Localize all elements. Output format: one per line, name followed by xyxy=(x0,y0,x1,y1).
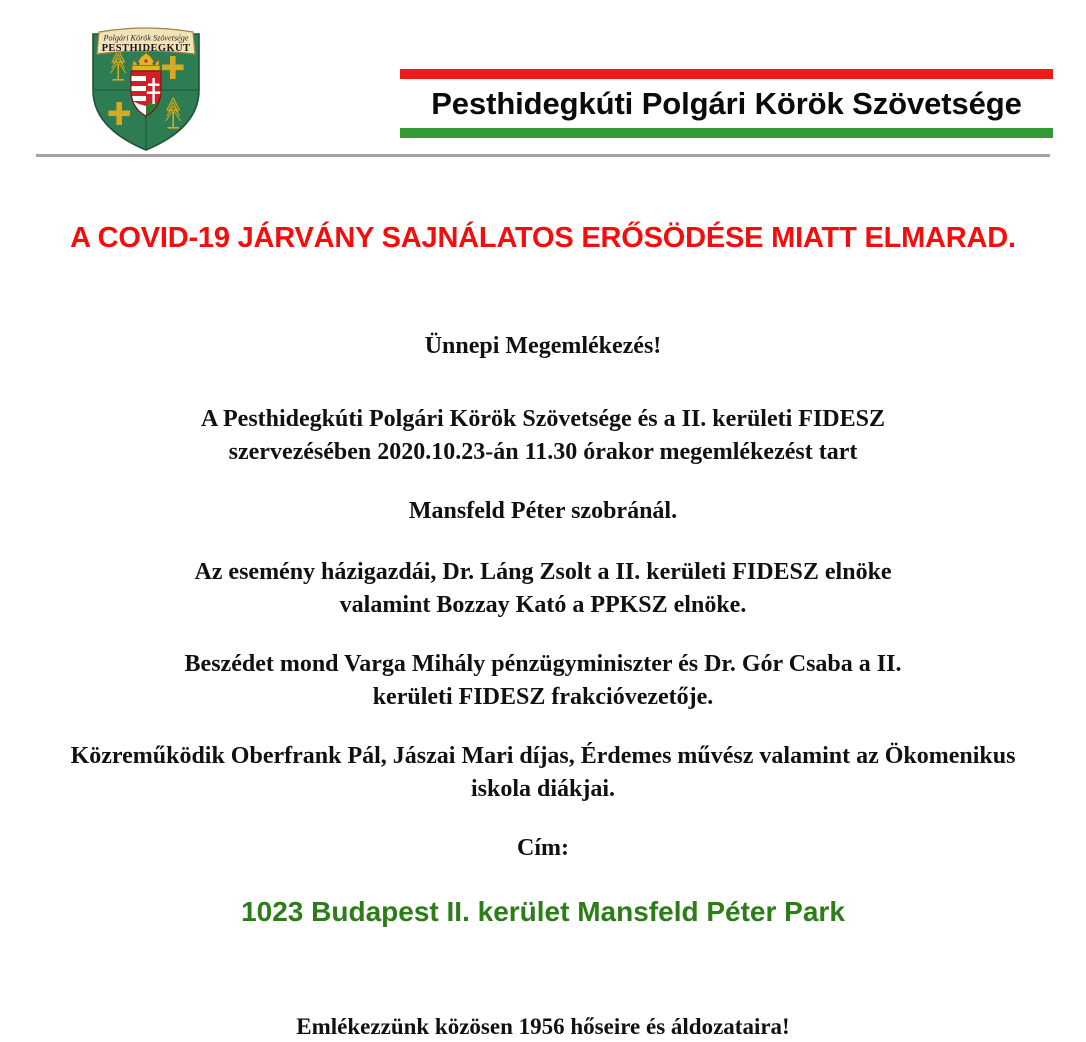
hosts-line-1: Az esemény házigazdái, Dr. Láng Zsolt a … xyxy=(63,556,1023,589)
performers-line-1: Közreműködik Oberfrank Pál, Jászai Mari … xyxy=(63,740,1023,773)
spacer xyxy=(0,931,1086,971)
crest-banner-line-2: PESTHIDEGKÚT xyxy=(102,42,191,54)
hungarian-flag-green-bar xyxy=(400,128,1053,138)
speakers-line-2: kerületi FIDESZ frakcióvezetője. xyxy=(63,681,1023,714)
address-label: Cím: xyxy=(63,832,1023,865)
header-divider xyxy=(36,154,1050,157)
spacer xyxy=(0,865,1086,893)
spacer xyxy=(0,363,1086,403)
page-header: Polgári Körök Szövetsége PESTHIDEGKÚT Pe… xyxy=(0,0,1086,158)
announcement-heading: Ünnepi Megemlékezés! xyxy=(63,330,1023,363)
performers-line-2: iskola diákjai. xyxy=(63,773,1023,806)
event-address: 1023 Budapest II. kerület Mansfeld Péter… xyxy=(0,893,1086,931)
organization-title: Pesthidegkúti Polgári Körök Szövetsége xyxy=(400,79,1053,128)
speakers-line-1: Beszédet mond Varga Mihály pénzügyminisz… xyxy=(63,648,1023,681)
hungarian-flag-red-bar xyxy=(400,69,1053,79)
organization-banner: Pesthidegkúti Polgári Körök Szövetsége xyxy=(400,69,1053,138)
spacer xyxy=(0,971,1086,1011)
venue-statue-line: Mansfeld Péter szobránál. xyxy=(63,495,1023,528)
organizers-line-1: A Pesthidegkúti Polgári Körök Szövetsége… xyxy=(63,403,1023,436)
spacer xyxy=(0,622,1086,648)
spacer xyxy=(0,528,1086,556)
announcement-body: Ünnepi Megemlékezés! A Pesthidegkúti Pol… xyxy=(0,330,1086,1042)
hosts-line-2: valamint Bozzay Kató a PPKSZ elnöke. xyxy=(63,589,1023,622)
spacer xyxy=(0,806,1086,832)
spacer xyxy=(0,469,1086,495)
covid-cancellation-notice: A COVID-19 JÁRVÁNY SAJNÁLATOS ERŐSÖDÉSE … xyxy=(0,220,1086,256)
spacer xyxy=(0,714,1086,740)
organization-crest-logo: Polgári Körök Szövetsége PESTHIDEGKÚT xyxy=(85,24,207,152)
organizers-line-2: szervezésében 2020.10.23-án 11.30 órakor… xyxy=(63,436,1023,469)
crest-banner-line-1: Polgári Körök Szövetsége xyxy=(102,34,188,43)
